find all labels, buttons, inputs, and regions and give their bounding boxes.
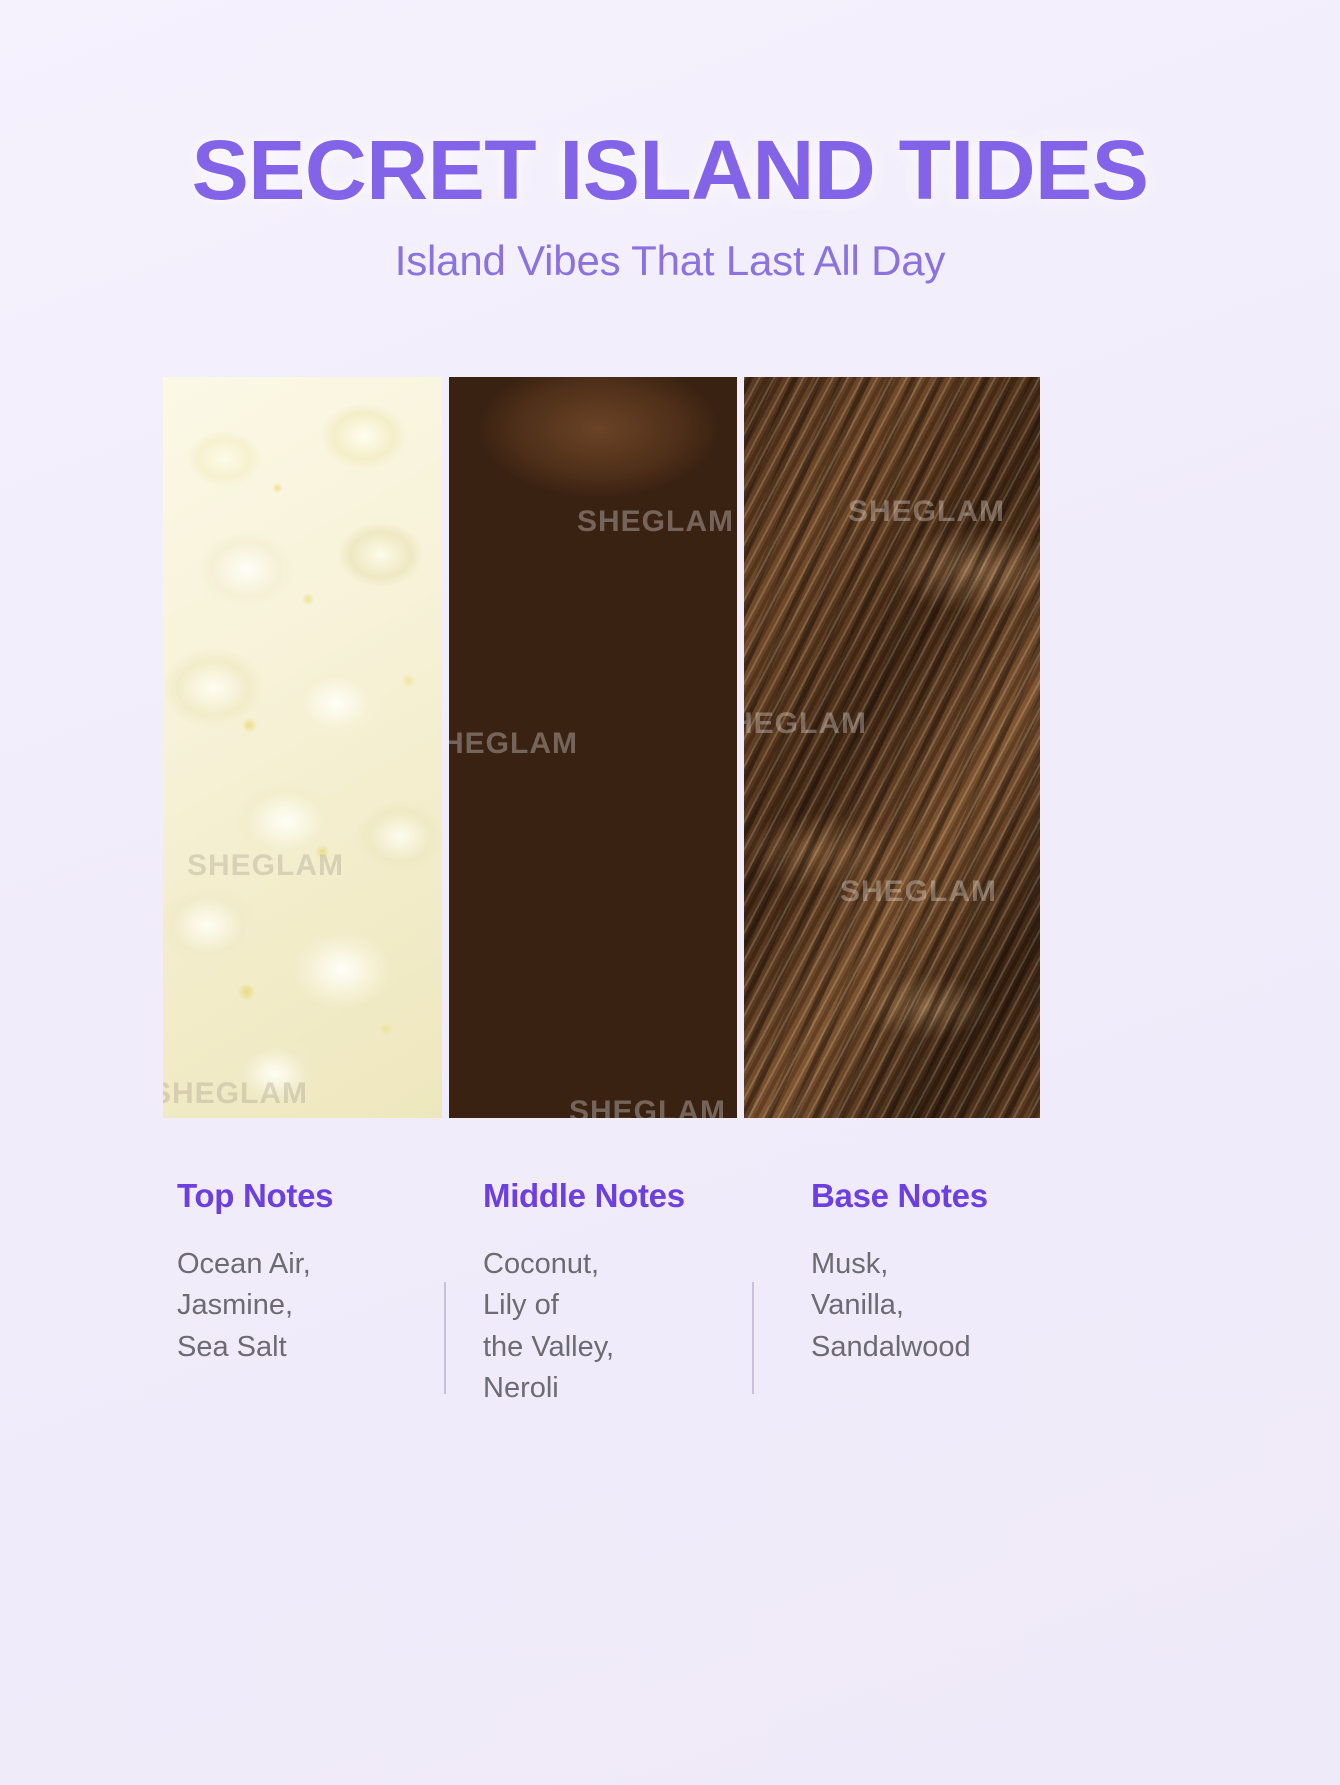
column-divider bbox=[752, 1282, 754, 1394]
fragrance-notes-section: Top Notes Ocean Air, Jasmine, Sea Salt M… bbox=[163, 1178, 1063, 1438]
jasmine-texture bbox=[163, 377, 442, 1118]
notes-heading-top: Top Notes bbox=[177, 1178, 417, 1214]
note-item: Sea Salt bbox=[177, 1327, 417, 1368]
notes-list-base: Musk, Vanilla, Sandalwood bbox=[811, 1244, 1063, 1368]
coconut-texture bbox=[449, 377, 737, 1118]
notes-column-middle: Middle Notes Coconut, Lily of the Valley… bbox=[483, 1178, 733, 1409]
column-divider bbox=[444, 1282, 446, 1394]
note-item: Neroli bbox=[483, 1368, 733, 1409]
sandalwood-image: SHEGLAM SHEGLAM SHEGLAM bbox=[744, 377, 1040, 1118]
note-item: Sandalwood bbox=[811, 1327, 1063, 1368]
notes-column-top: Top Notes Ocean Air, Jasmine, Sea Salt bbox=[177, 1178, 417, 1368]
header: SECRET ISLAND TIDES Island Vibes That La… bbox=[0, 128, 1340, 284]
note-item: Ocean Air, bbox=[177, 1244, 417, 1285]
note-item: the Valley, bbox=[483, 1327, 733, 1368]
notes-list-middle: Coconut, Lily of the Valley, Neroli bbox=[483, 1244, 733, 1409]
notes-heading-base: Base Notes bbox=[811, 1178, 1063, 1214]
page-subtitle: Island Vibes That Last All Day bbox=[0, 238, 1340, 284]
note-item: Musk, bbox=[811, 1244, 1063, 1285]
jasmine-flowers-image: SHEGLAM SHEGLAM bbox=[163, 377, 442, 1118]
poster-canvas: SECRET ISLAND TIDES Island Vibes That La… bbox=[0, 0, 1340, 1785]
fragrance-image-gallery: SHEGLAM SHEGLAM SHEGLAM SHEGLAM SHEGLAM … bbox=[163, 377, 1040, 1118]
page-title: SECRET ISLAND TIDES bbox=[0, 128, 1340, 212]
notes-list-top: Ocean Air, Jasmine, Sea Salt bbox=[177, 1244, 417, 1368]
notes-heading-middle: Middle Notes bbox=[483, 1178, 733, 1214]
note-item: Lily of bbox=[483, 1285, 733, 1326]
note-item: Coconut, bbox=[483, 1244, 733, 1285]
note-item: Vanilla, bbox=[811, 1285, 1063, 1326]
sandalwood-texture bbox=[744, 377, 1040, 1118]
note-item: Jasmine, bbox=[177, 1285, 417, 1326]
coconut-image: SHEGLAM SHEGLAM SHEGLAM bbox=[449, 377, 737, 1118]
notes-column-base: Base Notes Musk, Vanilla, Sandalwood bbox=[811, 1178, 1063, 1368]
